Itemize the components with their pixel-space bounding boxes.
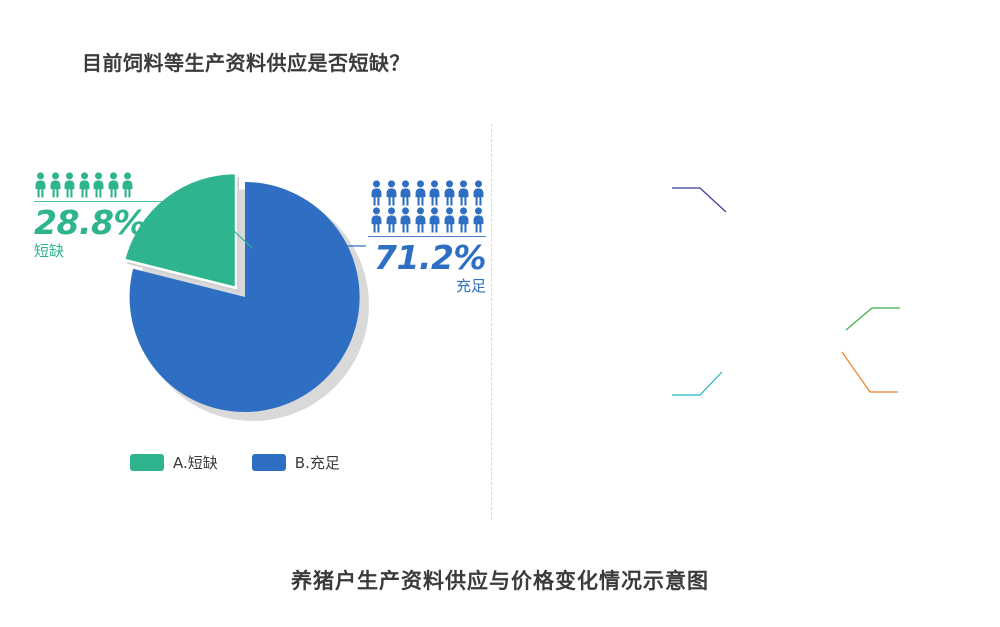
callout-shortage: 28.8% 短缺 [34,172,162,261]
shortage-percent: 28.8% [34,204,162,241]
legend-swatch [130,454,164,471]
callout-rule [368,236,486,237]
left-legend-item-0[interactable]: A.短缺 [130,452,218,473]
left-legend-item-1[interactable]: B.充足 [252,452,340,473]
left-question-title: 目前饲料等生产资料供应是否短缺？ [0,48,492,78]
people-pips-shortage [34,172,162,198]
left-chart-panel: 目前饲料等生产资料供应是否短缺？ 28.8% 短缺 71.2% 充足 A.短缺B… [0,0,492,627]
callout-rule [34,201,162,202]
right-question-title: 目前生产资料（饲料、仔猪） 价格总体有何变化？ [984,26,1000,86]
legend-swatch [252,454,286,471]
right-chart-panel: 目前生产资料（饲料、仔猪） 价格总体有何变化？ 60.1% 上涨5% [492,0,1000,627]
right-question-line2: 价格总体有何变化？ [984,56,1000,86]
left-legend: A.短缺B.充足 [130,452,390,473]
right-question-line1: 目前生产资料（饲料、仔猪） [984,26,1000,56]
callout-ample: 71.2% 充足 [368,180,486,296]
ample-label: 充足 [368,276,486,296]
legend-label: A.短缺 [173,452,218,473]
people-pips-ample [368,180,486,233]
figure-caption: 养猪户生产资料供应与价格变化情况示意图 [0,565,1000,595]
legend-label: B.充足 [295,452,340,473]
shortage-label: 短缺 [34,241,162,261]
ample-percent: 71.2% [368,239,486,276]
